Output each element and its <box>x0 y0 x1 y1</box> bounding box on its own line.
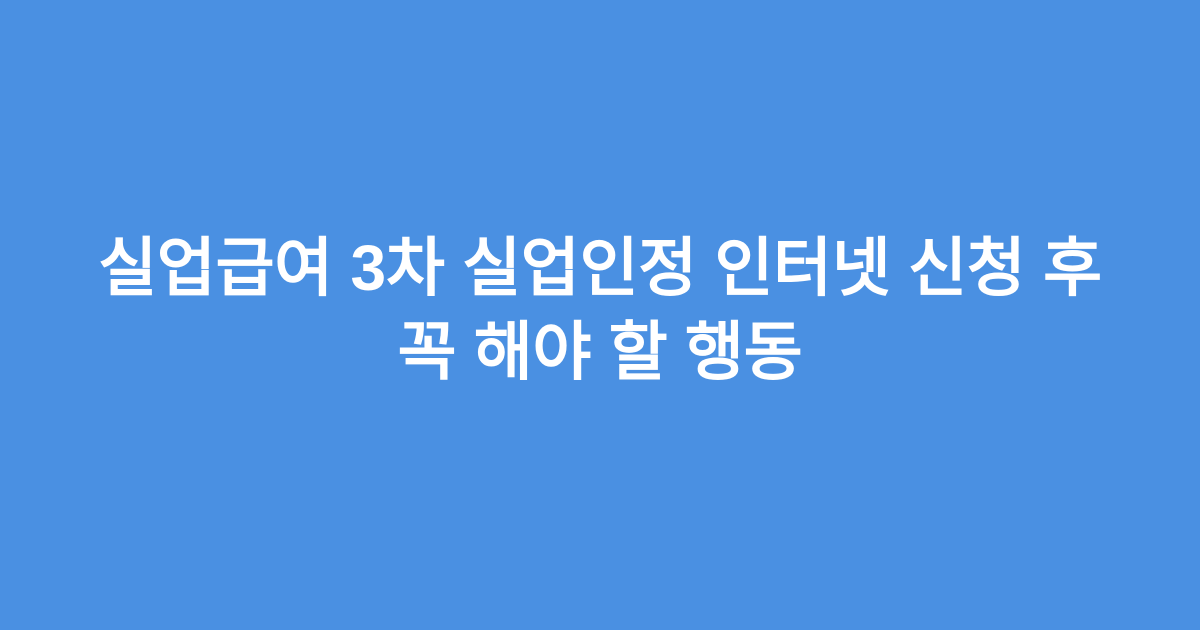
title-block: 실업급여 3차 실업인정 인터넷 신청 후 꼭 해야 할 행동 <box>0 226 1200 394</box>
title-line-2: 꼭 해야 할 행동 <box>40 310 1160 394</box>
title-line-1: 실업급여 3차 실업인정 인터넷 신청 후 <box>40 226 1160 310</box>
thumbnail-card: 실업급여 3차 실업인정 인터넷 신청 후 꼭 해야 할 행동 <box>0 0 1200 630</box>
